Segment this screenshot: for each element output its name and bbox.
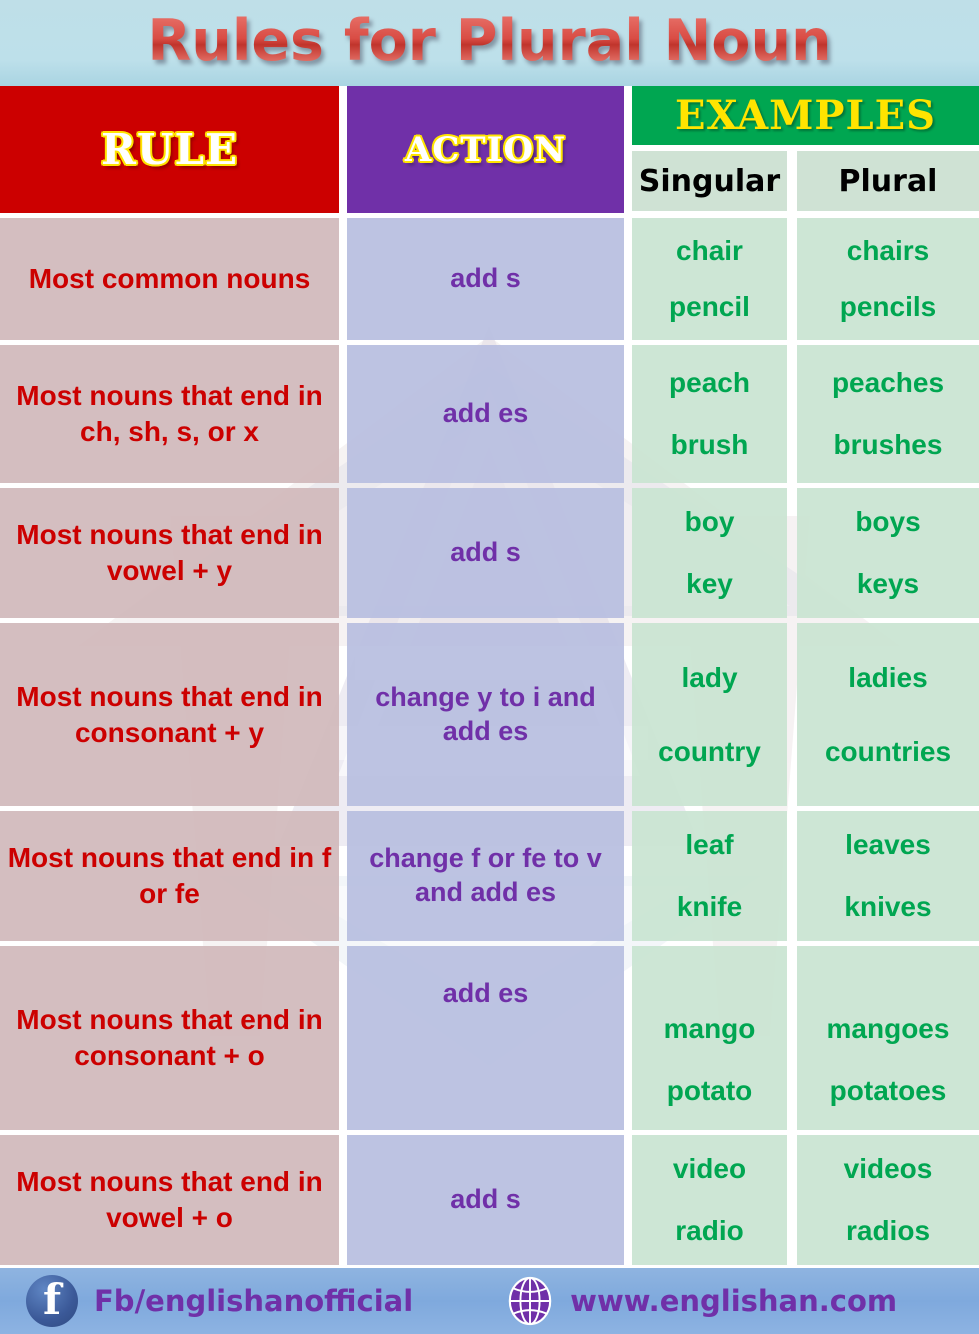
rule-text: Most nouns that end in f or fe <box>2 840 337 912</box>
website-label: www.englishan.com <box>570 1284 897 1318</box>
header-rule: RULE <box>0 86 339 213</box>
rule-text: Most nouns that end in consonant + y <box>2 679 337 751</box>
rule-text: Most nouns that end in vowel + o <box>2 1164 337 1236</box>
table-row: Most nouns that end in vowel + y <box>0 488 339 618</box>
singular-cell: lady country <box>632 623 787 806</box>
facebook-icon[interactable] <box>26 1275 78 1327</box>
action-cell: change f or fe to v and add es <box>347 811 624 941</box>
singular-word: brush <box>671 428 749 462</box>
plural-word: videos <box>844 1152 933 1186</box>
action-text: add s <box>450 262 521 296</box>
plural-cell: videos radios <box>797 1135 979 1265</box>
action-cell: add es <box>347 345 624 483</box>
singular-word: mango <box>664 1012 756 1046</box>
header-singular: Singular <box>632 151 787 211</box>
action-cell: add es <box>347 946 624 1130</box>
rule-text: Most nouns that end in ch, sh, s, or x <box>2 378 337 450</box>
singular-word: potato <box>667 1074 753 1108</box>
plural-word: mangoes <box>827 1012 950 1046</box>
action-text: add es <box>443 397 529 431</box>
plural-word: chairs <box>847 234 930 268</box>
singular-word: key <box>686 567 733 601</box>
singular-word: boy <box>685 505 735 539</box>
plural-word: keys <box>857 567 919 601</box>
action-text: change f or fe to v and add es <box>349 842 622 910</box>
singular-cell: boy key <box>632 488 787 618</box>
plural-cell: mangoes potatoes <box>797 946 979 1130</box>
table-grid: RULE ACTION EXAMPLES Singular Plural Mos… <box>0 86 979 1268</box>
plural-word: boys <box>855 505 920 539</box>
globe-icon[interactable] <box>506 1276 554 1326</box>
singular-word: video <box>673 1152 746 1186</box>
action-cell: add s <box>347 1135 624 1265</box>
header-action: ACTION <box>347 86 624 213</box>
action-cell: add s <box>347 218 624 340</box>
plural-word: knives <box>844 890 931 924</box>
plural-word: potatoes <box>830 1074 947 1108</box>
plural-word: pencils <box>840 290 936 324</box>
action-text: add es <box>443 977 529 1011</box>
rule-text: Most common nouns <box>2 261 337 297</box>
title-banner: Rules for Plural Noun <box>0 0 979 86</box>
table-row: Most nouns that end in ch, sh, s, or x <box>0 345 339 483</box>
plural-word: peaches <box>832 366 944 400</box>
header-examples-label: EXAMPLES <box>675 92 936 139</box>
action-text: add s <box>450 536 521 570</box>
singular-word: peach <box>669 366 750 400</box>
singular-word: pencil <box>669 290 750 324</box>
action-cell: change y to i and add es <box>347 623 624 806</box>
rule-text: Most nouns that end in vowel + y <box>2 517 337 589</box>
singular-word: chair <box>676 234 743 268</box>
facebook-link[interactable]: Fb/englishanofficial <box>26 1275 413 1327</box>
singular-cell: leaf knife <box>632 811 787 941</box>
singular-word: radio <box>675 1214 743 1248</box>
singular-word: lady <box>681 661 737 695</box>
singular-cell: peach brush <box>632 345 787 483</box>
plural-cell: chairs pencils <box>797 218 979 340</box>
table-row: Most nouns that end in consonant + y <box>0 623 339 806</box>
header-examples: EXAMPLES <box>632 86 979 145</box>
plural-cell: boys keys <box>797 488 979 618</box>
table-row: Most nouns that end in vowel + o <box>0 1135 339 1265</box>
plural-word: brushes <box>834 428 943 462</box>
website-link[interactable]: www.englishan.com <box>506 1276 897 1326</box>
table-row: Most nouns that end in f or fe <box>0 811 339 941</box>
singular-cell: chair pencil <box>632 218 787 340</box>
rule-text: Most nouns that end in consonant + o <box>2 1002 337 1074</box>
singular-cell: video radio <box>632 1135 787 1265</box>
header-plural: Plural <box>797 151 979 211</box>
singular-cell: mango potato <box>632 946 787 1130</box>
header-action-label: ACTION <box>405 130 566 170</box>
singular-word: knife <box>677 890 742 924</box>
header-rule-label: RULE <box>101 125 238 174</box>
plural-cell: peaches brushes <box>797 345 979 483</box>
plural-cell: ladies countries <box>797 623 979 806</box>
page-title: Rules for Plural Noun <box>147 13 831 74</box>
table-row: Most common nouns <box>0 218 339 340</box>
table-row: Most nouns that end in consonant + o <box>0 946 339 1130</box>
facebook-label: Fb/englishanofficial <box>94 1284 413 1318</box>
plural-cell: leaves knives <box>797 811 979 941</box>
header-plural-label: Plural <box>839 164 938 199</box>
plural-word: radios <box>846 1214 930 1248</box>
plural-word: countries <box>825 735 951 769</box>
singular-word: leaf <box>685 828 733 862</box>
plural-word: leaves <box>845 828 931 862</box>
action-cell: add s <box>347 488 624 618</box>
rules-table: RULE ACTION EXAMPLES Singular Plural Mos… <box>0 86 979 1268</box>
singular-word: country <box>658 735 761 769</box>
action-text: add s <box>450 1183 521 1217</box>
header-singular-label: Singular <box>639 164 780 199</box>
plural-word: ladies <box>848 661 927 695</box>
footer-bar: Fb/englishanofficial www.englishan.com <box>0 1268 979 1334</box>
action-text: change y to i and add es <box>349 681 622 749</box>
